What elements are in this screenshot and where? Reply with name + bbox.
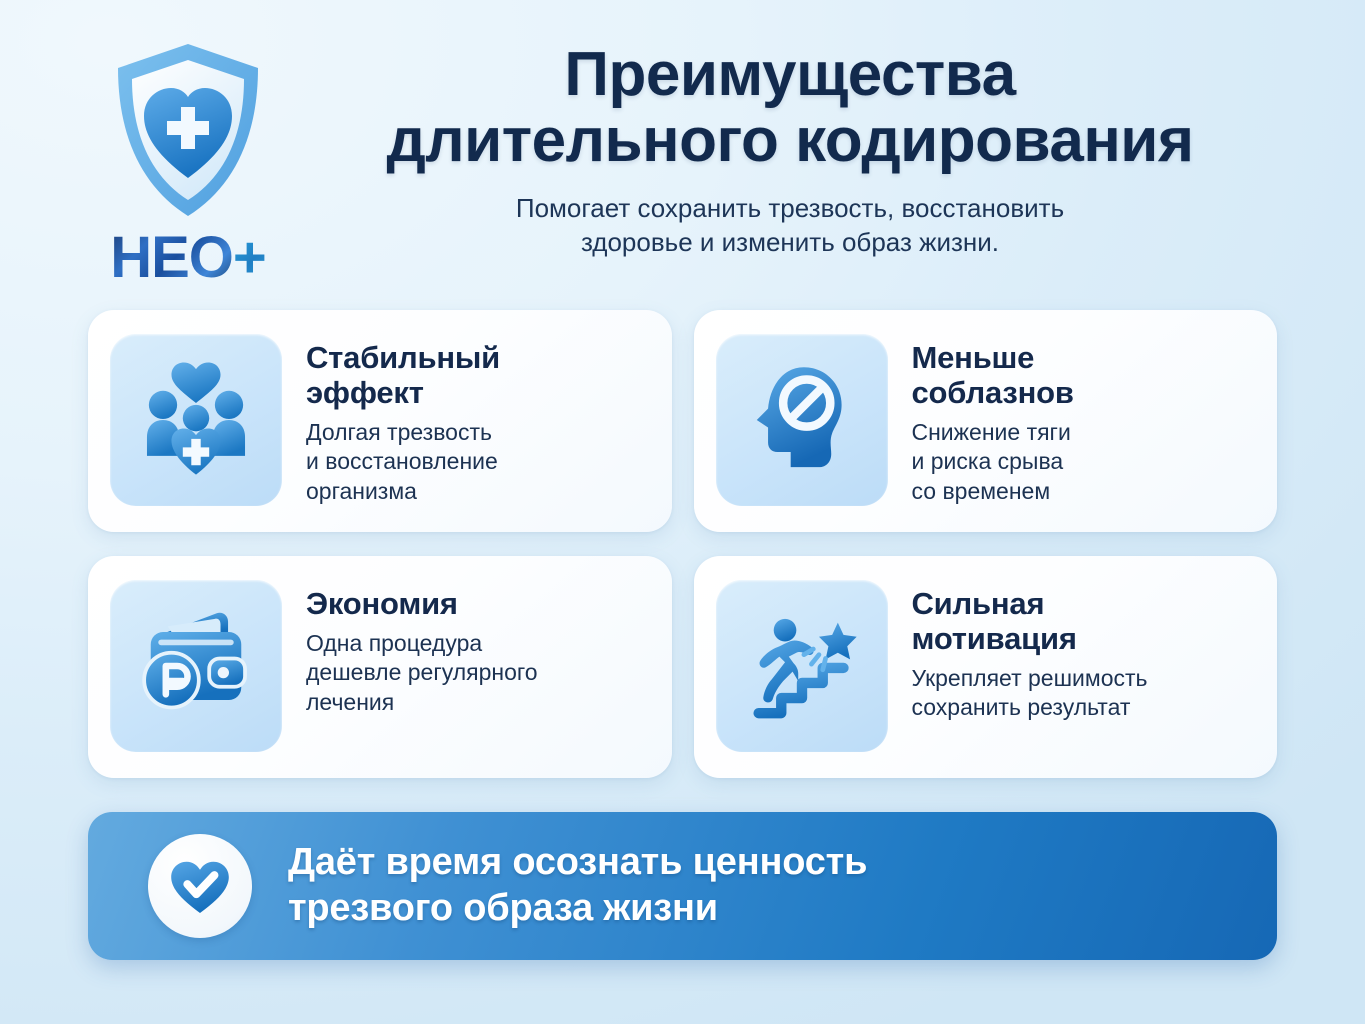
card-description: Снижение тяги и риска срыва со временем xyxy=(912,418,1074,506)
page-subtitle-line1: Помогает сохранить трезвость, восстанови… xyxy=(516,193,1064,223)
card-text: Экономия Одна процедура дешевле регулярн… xyxy=(282,580,538,717)
card-text: Стабильный эффект Долгая трезвость и вос… xyxy=(282,334,500,506)
card-title: Экономия xyxy=(306,586,538,621)
benefit-card-stable-effect[interactable]: Стабильный эффект Долгая трезвость и вос… xyxy=(88,310,672,532)
card-desc-line2: дешевле регулярного xyxy=(306,659,538,685)
page-subtitle: Помогает сохранить трезвость, восстанови… xyxy=(410,191,1170,260)
card-title-line1: Стабильный xyxy=(306,340,500,375)
card-title: Меньше соблазнов xyxy=(912,340,1074,410)
brand-block: НЕО+ xyxy=(78,38,298,287)
card-title-line1: Сильная xyxy=(912,586,1045,621)
banner-text: Даёт время осознать ценность трезвого об… xyxy=(288,840,867,931)
card-title: Стабильный эффект xyxy=(306,340,500,410)
card-desc-line1: Укрепляет решимость xyxy=(912,665,1148,691)
logo-wordmark: НЕО+ xyxy=(78,229,298,287)
card-description: Одна процедура дешевле регулярного лечен… xyxy=(306,629,538,717)
card-desc-line1: Снижение тяги xyxy=(912,419,1071,445)
banner-text-line2: трезвого образа жизни xyxy=(288,886,867,932)
card-title-line2: мотивация xyxy=(912,621,1077,656)
card-title-line1: Меньше xyxy=(912,340,1035,375)
page-title-line2: длительного кодирования xyxy=(386,106,1193,175)
card-title-line2: эффект xyxy=(306,375,424,410)
card-text: Сильная мотивация Укрепляет решимость со… xyxy=(888,580,1148,723)
card-desc-line1: Долгая трезвость xyxy=(306,419,492,445)
head-no-entry-icon xyxy=(716,334,888,506)
shield-heart-plus-icon xyxy=(108,38,268,223)
card-description: Долгая трезвость и восстановление органи… xyxy=(306,418,500,506)
card-desc-line1: Одна процедура xyxy=(306,630,482,656)
card-desc-line3: со временем xyxy=(912,478,1051,504)
benefit-cards: Стабильный эффект Долгая трезвость и вос… xyxy=(0,310,1365,802)
logo-text-plus: + xyxy=(233,229,266,287)
page-title: Преимущества длительного кодирования xyxy=(300,42,1280,175)
card-desc-line2: и восстановление xyxy=(306,448,498,474)
page-subtitle-line2: здоровье и изменить образ жизни. xyxy=(581,227,999,257)
family-heart-plus-icon xyxy=(110,334,282,506)
benefit-card-savings[interactable]: Экономия Одна процедура дешевле регулярн… xyxy=(88,556,672,778)
header: НЕО+ Преимущества длительного кодировани… xyxy=(0,0,1365,305)
card-title: Сильная мотивация xyxy=(912,586,1148,656)
page-title-line1: Преимущества xyxy=(564,40,1015,109)
card-desc-line3: лечения xyxy=(306,689,394,715)
wallet-ruble-icon xyxy=(110,580,282,752)
card-desc-line2: и риска срыва xyxy=(912,448,1064,474)
card-description: Укрепляет решимость сохранить результат xyxy=(912,664,1148,723)
benefit-card-motivation[interactable]: Сильная мотивация Укрепляет решимость со… xyxy=(694,556,1278,778)
card-text: Меньше соблазнов Снижение тяги и риска с… xyxy=(888,334,1074,506)
heart-check-icon xyxy=(148,834,252,938)
title-block: Преимущества длительного кодирования Пом… xyxy=(300,42,1280,259)
card-title-line1: Экономия xyxy=(306,586,458,621)
logo-text-neo: НЕО xyxy=(110,229,233,287)
card-desc-line3: организма xyxy=(306,478,417,504)
banner-text-line1: Даёт время осознать ценность xyxy=(288,840,867,886)
footer-banner[interactable]: Даёт время осознать ценность трезвого об… xyxy=(88,812,1277,960)
cards-row-top: Стабильный эффект Долгая трезвость и вос… xyxy=(0,310,1365,532)
cards-row-bottom: Экономия Одна процедура дешевле регулярн… xyxy=(0,556,1365,778)
card-desc-line2: сохранить результат xyxy=(912,694,1131,720)
person-stairs-star-icon xyxy=(716,580,888,752)
card-title-line2: соблазнов xyxy=(912,375,1074,410)
benefit-card-less-temptation[interactable]: Меньше соблазнов Снижение тяги и риска с… xyxy=(694,310,1278,532)
